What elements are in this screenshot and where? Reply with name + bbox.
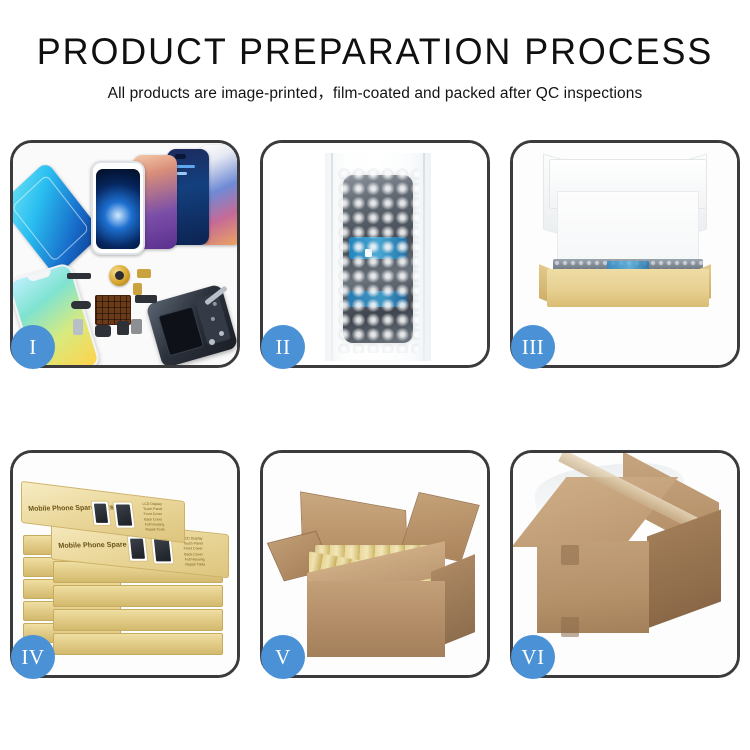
box-stack: Mobile Phone Spare Parts LCD Display Tou… <box>19 469 237 667</box>
box-product-thumbnail <box>127 536 149 562</box>
flex-cable-part <box>137 269 151 278</box>
box-checklist-item: Front Cover <box>184 547 203 551</box>
phone-glass-front-panel <box>91 161 145 255</box>
page-subtitle: All products are image-printed，film-coat… <box>0 72 750 103</box>
page-title: PRODUCT PREPARATION PROCESS <box>11 0 739 72</box>
carton-handle-tab <box>561 545 579 565</box>
camera-module-part <box>95 325 111 337</box>
button-part <box>117 321 129 335</box>
process-step-panel-3: III <box>510 140 740 368</box>
speaker-coil-part <box>109 265 130 286</box>
box-checklist-item: Front Cover <box>143 512 162 516</box>
disassembled-back-shell <box>145 284 237 365</box>
flex-cable-part <box>133 283 142 295</box>
box-checklist-item: Full Housing <box>145 523 165 527</box>
plastic-bag <box>325 153 431 361</box>
box-checklist: LCD Display Touch Panel Front Cover Back… <box>182 537 205 568</box>
screw-part <box>219 331 224 336</box>
step-badge-1: I <box>11 325 55 369</box>
screw-part <box>209 339 215 345</box>
process-step-panel-5: V <box>260 450 490 678</box>
phone-notch <box>107 164 129 169</box>
step-badge-4: IV <box>11 635 55 679</box>
process-step-panel-1: I <box>10 140 240 368</box>
blue-adhesive-film <box>13 161 103 277</box>
process-step-grid: I II <box>10 140 740 680</box>
box-checklist-item: LCD Display <box>182 537 202 541</box>
box-checklist-item: Repair Tools <box>185 563 205 567</box>
connector-part <box>71 301 91 309</box>
box-checklist-item: Full Housing <box>185 558 205 562</box>
battery-part <box>158 306 204 356</box>
phone-camera-cutout <box>175 154 186 159</box>
step-badge-3: III <box>511 325 555 369</box>
header: PRODUCT PREPARATION PROCESS All products… <box>0 0 750 103</box>
box-checklist: LCD Display Touch Panel Front Cover Back… <box>142 502 165 533</box>
box-edge <box>53 609 223 631</box>
box-product-thumbnail <box>91 501 112 526</box>
box-product-thumbnail <box>112 501 135 528</box>
vibrator-part <box>131 319 142 334</box>
carton-side-panel <box>647 510 721 629</box>
carton-front-panel <box>307 581 445 657</box>
product-preparation-infographic: PRODUCT PREPARATION PROCESS All products… <box>0 0 750 750</box>
ribbon-cable-part <box>135 295 157 303</box>
step-badge-5: V <box>261 635 305 679</box>
process-step-panel-6: VI <box>510 450 740 678</box>
carton-handle-tab <box>561 617 579 637</box>
step-badge-2: II <box>261 325 305 369</box>
bubble-wrap-texture <box>337 167 419 353</box>
box-checklist-item: Repair Tools <box>145 528 165 532</box>
box-checklist-item: Touch Panel <box>143 507 163 511</box>
box-checklist-item: Touch Panel <box>183 542 203 546</box>
box-checklist-item: LCD Display <box>142 502 162 506</box>
step-badge-6: VI <box>511 635 555 679</box>
box-edge <box>53 633 223 655</box>
process-step-panel-2: II <box>260 140 490 368</box>
box-edge <box>53 585 223 607</box>
box-checklist-item: Back Cover <box>144 517 162 521</box>
mailer-front-panel <box>547 269 709 307</box>
box-checklist-item: Back Cover <box>184 552 203 556</box>
carton-front-panel <box>537 541 649 633</box>
metal-bracket-part <box>73 319 83 335</box>
process-step-panel-4: Mobile Phone Spare Parts LCD Display Tou… <box>10 450 240 678</box>
phone-wallpaper <box>96 169 140 249</box>
earpiece-mesh-part <box>67 273 91 279</box>
